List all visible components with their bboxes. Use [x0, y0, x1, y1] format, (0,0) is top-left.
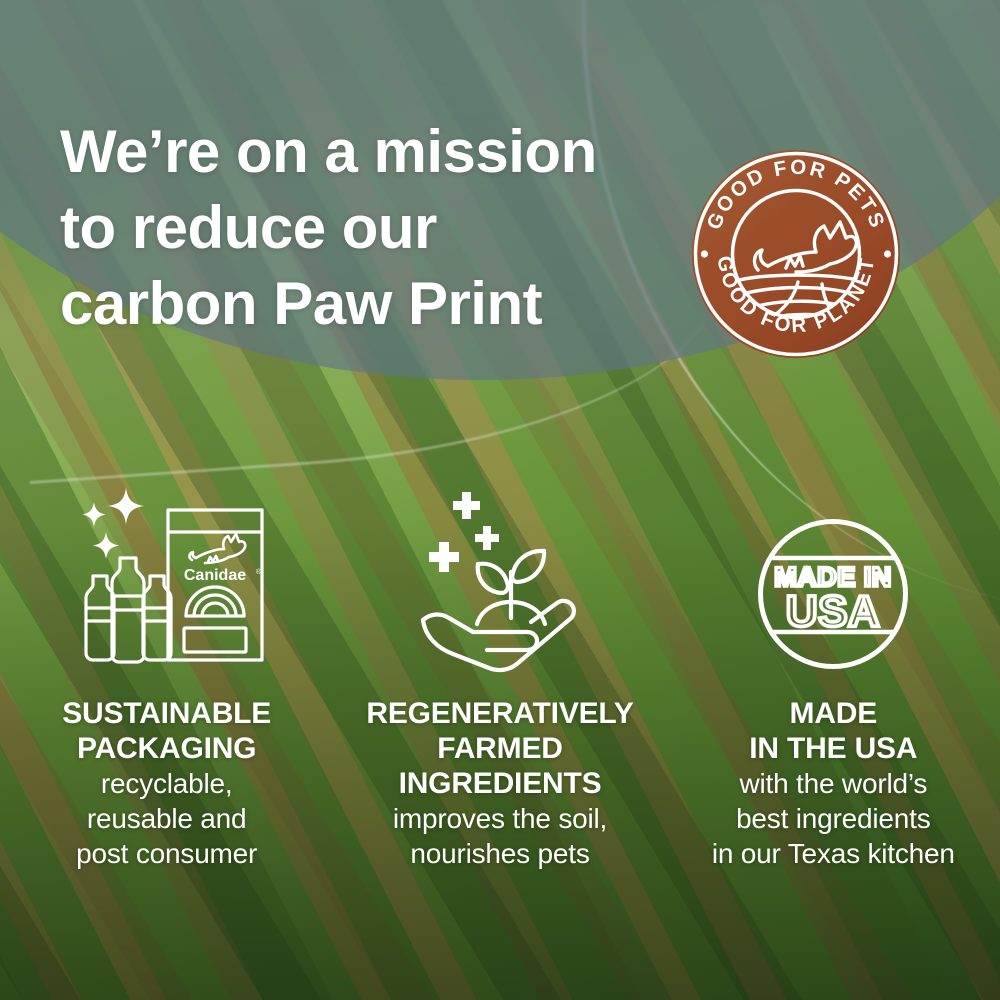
bag-label-box [184, 628, 246, 652]
feature-body: improves the soil, nourishes pets [366, 801, 633, 871]
canidae-logo-mark [189, 534, 245, 563]
seal-dot-left [701, 250, 708, 257]
feature-body: with the world’s best ingredients in our… [712, 766, 955, 871]
feature-text-3: MADE IN THE USA with the world’s best in… [712, 696, 955, 871]
sparkle-plus-icon [475, 526, 499, 550]
page-title: We’re on a mission to reduce our carbon … [60, 114, 700, 342]
registered-mark: ® [256, 568, 262, 576]
usa-badge-text-group: MADE IN USA [775, 562, 893, 636]
feature-art-1: Canidae ® [62, 470, 272, 670]
usa-badge-line2: USA [786, 587, 880, 636]
hand-outline [423, 601, 574, 670]
feature-sustainable-packaging: Canidae ® SUSTAINABLE PACKAGING recyclab… [0, 470, 333, 871]
feature-regenerative-ingredients: REGENERATIVELY FARMED INGREDIENTS improv… [333, 470, 666, 871]
feature-title: MADE IN THE USA [712, 696, 955, 766]
sparkle-icon [82, 502, 106, 527]
feature-made-in-usa: MADE IN USA [667, 470, 1000, 871]
feature-row: Canidae ® SUSTAINABLE PACKAGING recyclab… [0, 470, 1000, 871]
feature-art-2 [405, 470, 595, 670]
hand-fingers [473, 632, 537, 650]
sparkle-plus-icon [453, 492, 480, 519]
feature-text-1: SUSTAINABLE PACKAGING recyclable, reusab… [62, 696, 271, 871]
feature-body: recyclable, reusable and post consumer [62, 766, 271, 871]
hand-holding-soil-with-sprout-icon [405, 480, 595, 670]
feature-title: SUSTAINABLE PACKAGING [62, 696, 271, 766]
feature-title: REGENERATIVELY FARMED INGREDIENTS [366, 696, 633, 801]
made-in-usa-badge-icon: MADE IN USA [757, 518, 909, 670]
sparkle-plus-icon [429, 542, 459, 572]
plastic-bottle-back [86, 576, 114, 660]
sparkle-icon [92, 532, 119, 559]
canidae-wordmark: Canidae [184, 567, 246, 584]
seal-dot-right [884, 250, 891, 257]
bag-arc-3 [202, 603, 228, 616]
feature-text-2: REGENERATIVELY FARMED INGREDIENTS improv… [366, 696, 633, 871]
bag-arc-2 [194, 595, 236, 616]
good-for-pets-seal: GOOD FOR PETS GOOD FOR PLANET [690, 148, 902, 360]
poster-canvas: We’re on a mission to reduce our carbon … [0, 0, 1000, 1000]
feature-art-3: MADE IN USA [757, 470, 909, 670]
sprout-leaf-left [478, 564, 508, 593]
sprout-leaf-right [512, 551, 544, 582]
recyclable-pet-food-bag-with-bottles-icon: Canidae ® [62, 480, 272, 670]
sparkle-icon [108, 488, 144, 524]
hand-thumb-edge [423, 614, 473, 632]
